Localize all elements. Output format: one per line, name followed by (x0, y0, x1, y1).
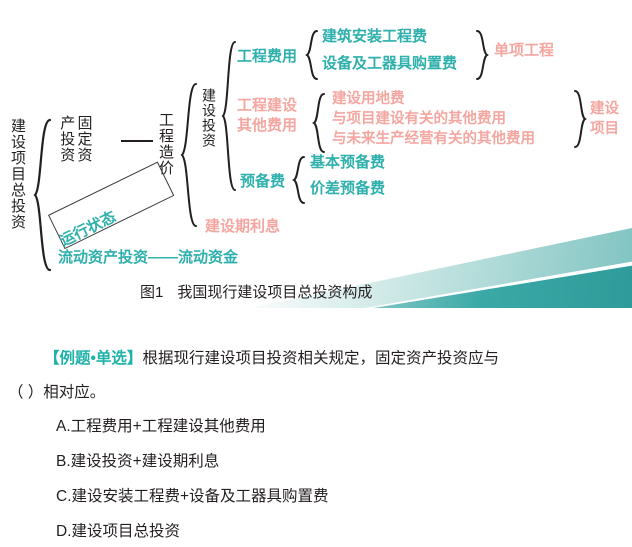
node-reserve-fee: 预备费 (240, 174, 285, 190)
question-stem-second-line: （ ）相对应。 (8, 380, 105, 402)
node-single-project-label: 单项工程 (494, 43, 554, 59)
question-type-tag: 【例题•单选】 (44, 350, 142, 367)
node-construction-project-label: 建设项目 (590, 100, 626, 139)
brace-other-construction-fee (312, 92, 328, 154)
node-future-operation-related-fee: 与未来生产经营有关的其他费用 (332, 132, 535, 148)
node-land-use-fee: 建设用地费 (332, 92, 405, 108)
figure-caption-number: 图1 (140, 284, 163, 301)
node-construction-installation-fee: 建筑安装工程费 (322, 29, 427, 45)
node-current-asset-investment: 流动资产投资——流动资金 (58, 250, 238, 266)
figure-caption: 图1我国现行建设项目总投资构成 (140, 281, 372, 302)
node-fixed-asset-investment: 固定资产投资 (58, 115, 93, 173)
question-stem-text: 根据现行建设项目投资相关规定，固定资产投资应与 (142, 350, 499, 367)
node-construction-investment: 建设投资 (202, 88, 216, 148)
brace-engineering-fee (305, 29, 321, 81)
option-c[interactable]: C.建设安装工程费+设备及工器具购置费 (56, 484, 329, 506)
node-root-total-investment: 建设项目总投资 (10, 118, 25, 230)
question-stem-line: 【例题•单选】根据现行建设项目投资相关规定，固定资产投资应与 (44, 347, 624, 371)
connector-dash-fixed-to-cost (120, 138, 154, 144)
figure-caption-text: 我国现行建设项目总投资构成 (177, 284, 372, 301)
node-basic-reserve-fee: 基本预备费 (310, 155, 385, 171)
question-block: 【例题•单选】根据现行建设项目投资相关规定，固定资产投资应与 （ ）相对应。 A… (0, 308, 632, 547)
option-a[interactable]: A.工程费用+工程建设其他费用 (56, 414, 266, 436)
brace-reserve-fee (292, 155, 308, 205)
node-engineering-fee: 工程费用 (237, 49, 297, 65)
node-other-construction-fee: 工程建设其他费用 (237, 96, 311, 135)
option-b[interactable]: B.建设投资+建设期利息 (56, 449, 219, 471)
brace-project-cost (180, 82, 200, 228)
brace-single-project-group (473, 29, 489, 81)
node-equipment-purchase-fee: 设备及工器具购置费 (322, 56, 457, 72)
node-price-difference-reserve-fee: 价差预备费 (310, 181, 385, 197)
node-construction-period-interest: 建设期利息 (205, 219, 280, 235)
option-d[interactable]: D.建设项目总投资 (56, 519, 180, 541)
node-project-related-other-fee: 与项目建设有关的其他费用 (332, 112, 506, 128)
figure-diagram: 建设项目总投资 固定资产投资 工程造价 建设投资 工程费用 建筑安装工程费 设备… (0, 0, 632, 308)
brace-root (32, 118, 54, 273)
brace-construction-project-group (571, 89, 587, 149)
